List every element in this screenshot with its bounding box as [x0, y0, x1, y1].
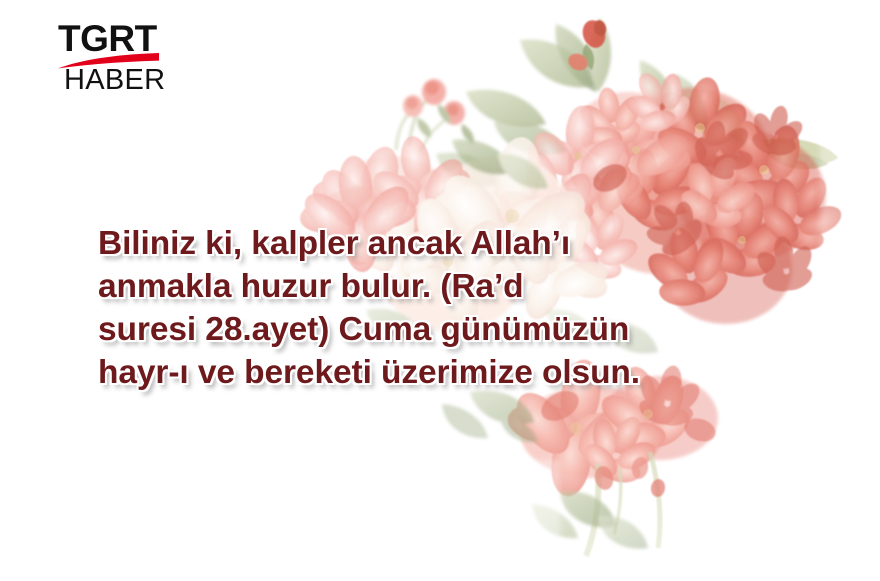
quote-line-1: Biliniz ki, kalpler ancak Allah’ı: [98, 222, 808, 265]
quote-line-3: suresi 28.ayet) Cuma günümüzün: [98, 308, 808, 351]
logo-primary-text: TGRT: [58, 20, 157, 57]
logo-secondary-text: HABER: [64, 66, 165, 95]
leaf-fan-top: [436, 18, 745, 186]
quote-line-4: hayr-ı ve bereketi üzerimize olsun.: [98, 351, 808, 394]
rose-bud-cluster: [396, 79, 474, 152]
olive-leaf-right: [762, 138, 838, 169]
quote-text-block: Biliniz ki, kalpler ancak Allah’ı anmakl…: [98, 222, 808, 394]
poster-canvas: TGRT HABER Biliniz ki, kalpler ancak All…: [0, 0, 880, 581]
quote-line-2: anmakla huzur bulur. (Ra’d: [98, 265, 808, 308]
left-lower-leaves: [442, 391, 538, 443]
tgrt-haber-logo[interactable]: TGRT HABER: [58, 20, 163, 95]
top-red-bud: [566, 17, 609, 73]
